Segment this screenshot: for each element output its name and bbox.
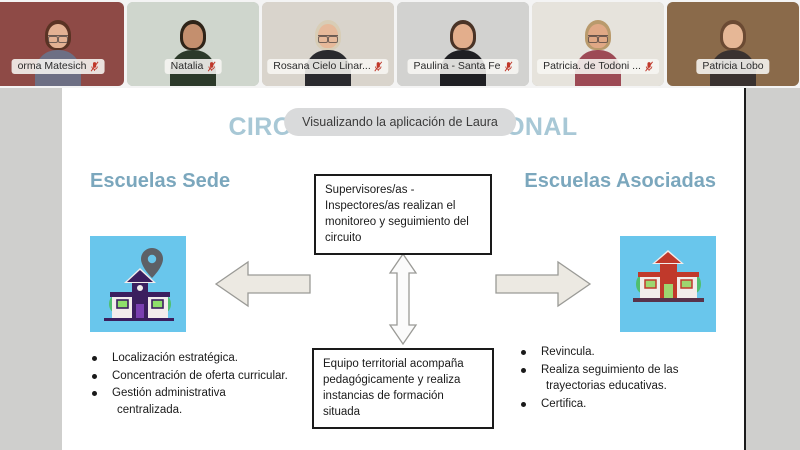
participant-tile[interactable]: orma Matesich bbox=[0, 2, 124, 86]
microphone-muted-icon[interactable] bbox=[504, 61, 512, 72]
arrow-left-icon bbox=[214, 256, 312, 312]
participant-figure bbox=[575, 24, 621, 86]
participant-name: Patricia. de Todoni ... bbox=[543, 60, 641, 72]
glasses-icon bbox=[588, 35, 608, 41]
list-item-label: Realiza seguimiento de las bbox=[541, 364, 678, 376]
list-item-label: Certifica. bbox=[541, 398, 586, 410]
participant-name-badge: Paulina - Santa Fe bbox=[408, 59, 519, 74]
school-with-location-pin-icon bbox=[90, 236, 186, 332]
participant-figure bbox=[440, 24, 486, 86]
list-item-label-continuation: centralizada. bbox=[112, 402, 324, 419]
school-building-icon bbox=[620, 236, 716, 332]
shared-slide: CIRCUITO JURISDICCIONAL Escuelas Sede Es… bbox=[62, 88, 746, 450]
presenting-tooltip: Visualizando la aplicación de Laura bbox=[284, 108, 516, 136]
microphone-muted-icon[interactable] bbox=[90, 61, 98, 72]
list-item: Certifica. bbox=[513, 396, 728, 413]
supervisors-text-box: Supervisores/as - Inspectores/as realiza… bbox=[314, 174, 492, 255]
list-item: Revincula. bbox=[513, 344, 728, 361]
participant-name-badge: Natalia bbox=[165, 59, 222, 74]
glasses-icon bbox=[48, 35, 68, 41]
participant-name-badge: Patricia Lobo bbox=[696, 59, 769, 74]
list-item: Localización estratégica. bbox=[84, 350, 324, 367]
participant-name: Rosana Cielo Linar... bbox=[273, 60, 370, 72]
microphone-muted-icon[interactable] bbox=[207, 61, 215, 72]
participant-figure bbox=[710, 24, 756, 86]
microphone-muted-icon[interactable] bbox=[645, 61, 653, 72]
participant-name: Natalia bbox=[171, 60, 204, 72]
participant-tile[interactable]: Patricia. de Todoni ... bbox=[532, 2, 664, 86]
participant-figure bbox=[170, 24, 216, 86]
participant-name: orma Matesich bbox=[18, 60, 87, 72]
list-item: Concentración de oferta curricular. bbox=[84, 368, 324, 385]
participant-figure bbox=[305, 24, 351, 86]
participant-tile[interactable]: Rosana Cielo Linar... bbox=[262, 2, 394, 86]
participant-figure bbox=[35, 24, 81, 86]
arrow-right-icon bbox=[494, 256, 592, 312]
list-item: Realiza seguimiento de lastrayectorias e… bbox=[513, 362, 728, 395]
arrow-up-down-icon bbox=[388, 251, 418, 347]
list-item-label: Revincula. bbox=[541, 346, 595, 358]
column-heading-left: Escuelas Sede bbox=[90, 170, 230, 193]
microphone-muted-icon[interactable] bbox=[375, 61, 383, 72]
list-item-label: Gestión administrativa bbox=[112, 387, 226, 399]
territorial-team-text-box: Equipo territorial acompaña pedagógicame… bbox=[312, 348, 494, 429]
glasses-icon bbox=[318, 35, 338, 41]
video-participant-strip: orma Matesich Natalia Rosana Cielo Linar… bbox=[0, 0, 800, 88]
participant-tile[interactable]: Natalia bbox=[127, 2, 259, 86]
bullet-list-right: Revincula.Realiza seguimiento de lastray… bbox=[513, 344, 728, 414]
list-item: Gestión administrativacentralizada. bbox=[84, 385, 324, 418]
participant-name-badge: orma Matesich bbox=[12, 59, 105, 74]
column-heading-right: Escuelas Asociadas bbox=[524, 170, 716, 193]
list-item-label: Concentración de oferta curricular. bbox=[112, 370, 288, 382]
list-item-label-continuation: trayectorias educativas. bbox=[541, 378, 728, 395]
participant-tile[interactable]: Patricia Lobo bbox=[667, 2, 799, 86]
participant-name: Paulina - Santa Fe bbox=[414, 60, 501, 72]
participant-name-badge: Patricia. de Todoni ... bbox=[537, 59, 659, 74]
participant-name: Patricia Lobo bbox=[702, 60, 763, 72]
participant-tile[interactable]: Paulina - Santa Fe bbox=[397, 2, 529, 86]
bullet-list-left: Localización estratégica.Concentración d… bbox=[84, 350, 324, 420]
list-item-label: Localización estratégica. bbox=[112, 352, 238, 364]
participant-name-badge: Rosana Cielo Linar... bbox=[267, 59, 388, 74]
